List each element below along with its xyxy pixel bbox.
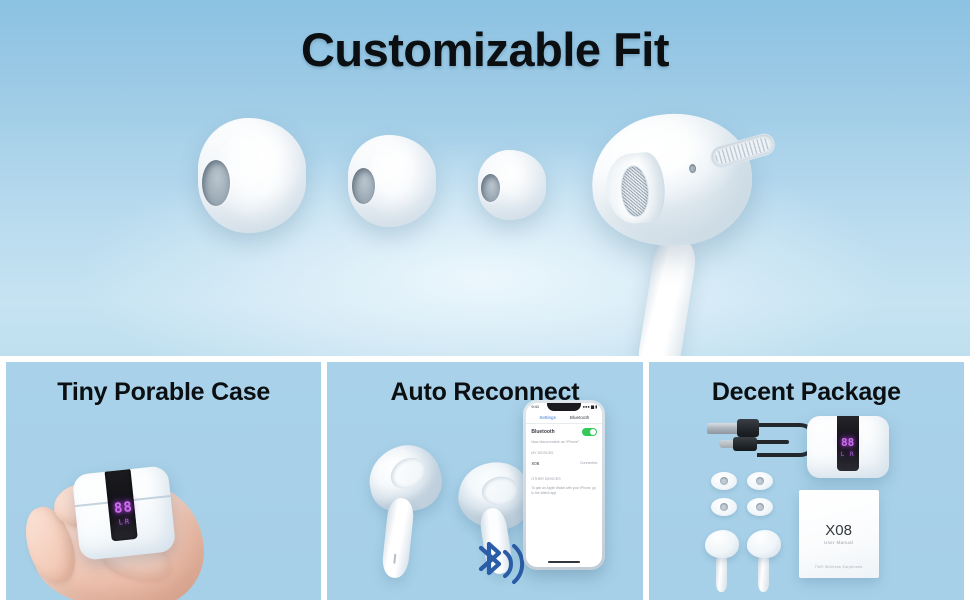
smartphone: 9:41 ●●● ▆ ▮ Settings Bluetooth Bluetoot…: [523, 400, 605, 570]
usb-c-housing: [733, 437, 757, 451]
spare-ear-tip: [747, 498, 773, 516]
package-earbud-left-head: [705, 530, 739, 558]
case-channel-indicators: L R: [807, 450, 889, 459]
phone-nav-bar: Settings Bluetooth: [526, 415, 602, 424]
earbud-left-head-inner: [385, 452, 431, 495]
package-earbud-left-stem: [716, 552, 727, 592]
charging-case: 88 L R: [807, 416, 889, 478]
phone-discoverable-hint: Now discoverable as “iPhone”.: [531, 440, 597, 444]
spare-ear-tip: [711, 498, 737, 516]
package-earbud-right-stem: [758, 552, 769, 592]
earbud-left-mic-slot: [394, 554, 397, 564]
ear-tip-medium: [348, 135, 436, 227]
hand-holding-case: 88 LR: [24, 458, 234, 600]
panel-auto-reconnect: Auto Reconnect: [327, 362, 642, 600]
panel-decent-package: Decent Package: [649, 362, 964, 600]
earbud-left: [363, 446, 455, 578]
charging-case: 88 LR: [72, 465, 176, 561]
usb-cable-wire: [755, 440, 789, 444]
page-title: Customizable Fit: [0, 22, 970, 77]
spare-ear-tip: [747, 472, 773, 490]
package-earbud-left: [701, 530, 743, 594]
hero-section: Customizable Fit: [0, 0, 970, 356]
phone-device-name: X08: [531, 461, 539, 466]
usb-cable: [707, 418, 817, 456]
earbud-stem: [635, 236, 698, 356]
phone-my-devices-header: MY DEVICES: [531, 451, 597, 455]
panel-title-decent-package: Decent Package: [649, 378, 964, 407]
earbuds-pair: [701, 530, 797, 596]
package-contents: 88 L R X08 User Manual TWS Wireless Earp…: [649, 414, 964, 600]
manual-model-name: X08: [799, 522, 879, 539]
manual-subtitle: User Manual: [799, 540, 879, 545]
phone-status-indicators: ●●● ▆ ▮: [583, 404, 598, 409]
ear-tip-large: [198, 118, 306, 233]
phone-back-button[interactable]: Settings: [539, 415, 556, 420]
phone-other-note: To pair an Apple Watch with your iPhone,…: [531, 486, 597, 496]
earbud-right-head-inner: [480, 474, 520, 508]
panel-title-tiny-portable-case: Tiny Porable Case: [6, 378, 321, 407]
earbud-body: [587, 107, 758, 252]
vent-slot: [708, 131, 778, 170]
phone-status-bar: 9:41 ●●● ▆ ▮: [526, 404, 602, 409]
manual-footer: TWS Wireless Earphones: [799, 565, 879, 569]
phone-nav-title: Bluetooth: [570, 415, 589, 420]
feature-panels: Tiny Porable Case 88 LR Auto Reconnect: [0, 356, 970, 600]
usb-a-housing: [737, 419, 759, 437]
product-poster: Customizable Fit Tiny Porable Case: [0, 0, 970, 600]
earbud: [560, 108, 790, 356]
phone-device-status: Connected: [580, 461, 597, 466]
case-battery-digits: 88: [807, 436, 889, 449]
phone-status-time: 9:41: [531, 404, 539, 409]
phone-other-devices-header: OTHER DEVICES: [531, 477, 597, 481]
phone-device-row[interactable]: X08 Connected: [531, 461, 597, 466]
package-earbud-right: [743, 530, 785, 594]
bluetooth-icon: [465, 538, 527, 594]
ear-tip-small: [478, 150, 546, 220]
phone-screen[interactable]: 9:41 ●●● ▆ ▮ Settings Bluetooth Bluetoot…: [526, 403, 602, 567]
phone-home-indicator: [548, 561, 580, 563]
spare-ear-tip: [711, 472, 737, 490]
package-earbud-right-head: [747, 530, 781, 558]
user-manual: X08 User Manual TWS Wireless Earphones: [799, 490, 879, 578]
phone-bluetooth-toggle[interactable]: [582, 428, 597, 436]
panel-tiny-portable-case: Tiny Porable Case 88 LR: [6, 362, 321, 600]
microphone-pinhole-icon: [689, 164, 697, 174]
spare-ear-tips: [711, 472, 789, 528]
